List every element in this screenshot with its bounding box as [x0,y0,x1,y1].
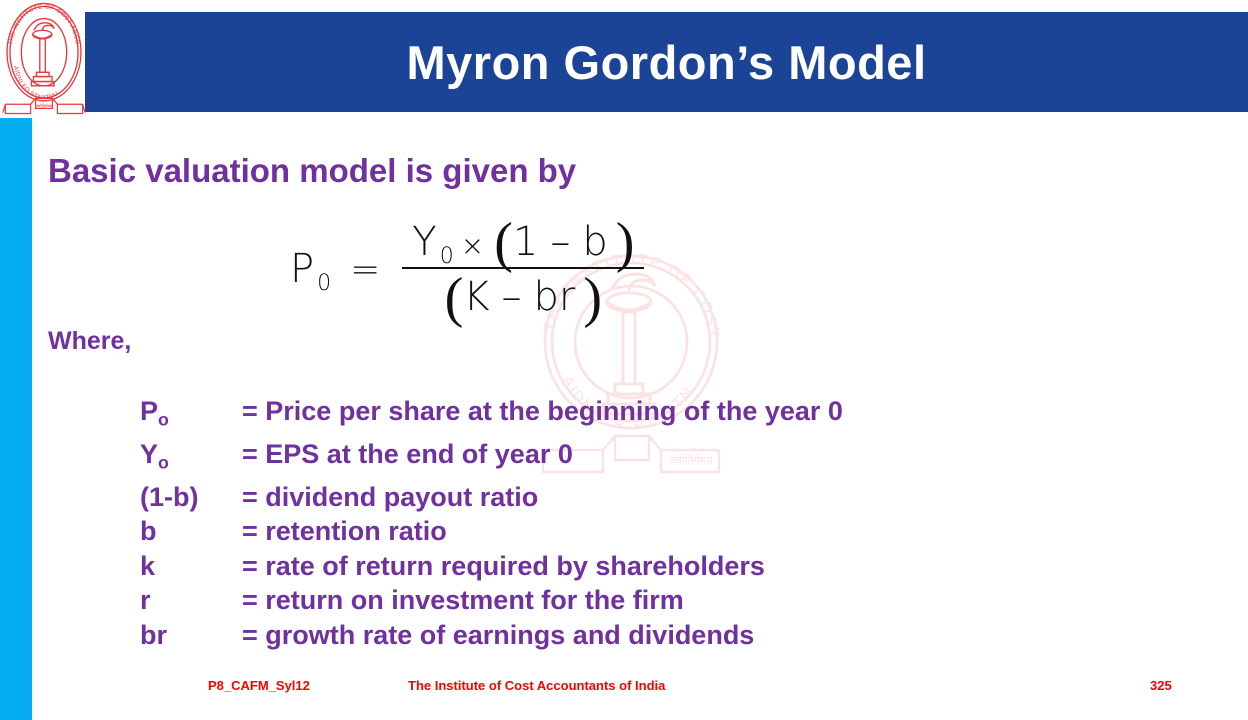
definition-description: = growth rate of earnings and dividends [242,618,754,653]
definition-symbol-subscript: o [158,452,169,472]
definition-description: = return on investment for the firm [242,583,684,618]
footer-subject-code: P8_CAFM_Syl12 [208,678,310,693]
denominator-first-term: K [463,274,489,320]
where-label: Where, [48,327,131,356]
denominator-close-paren: ) [583,279,602,318]
definition-symbol-base: b [140,516,157,546]
definition-symbol-subscript: o [158,409,169,429]
formula-denominator: ( K – br ) [435,269,612,320]
formula-equals: = [350,249,380,290]
numerator-times-sign: × [461,229,484,262]
numerator-operator: – [550,219,570,265]
definition-symbol-base: k [140,551,155,581]
footer-page-number: 325 [1150,678,1172,693]
definition-row: k= rate of return required by shareholde… [140,549,843,584]
definition-symbol: k [140,549,242,584]
institute-logo-icon: THE INSTITUTE OF COST ACCO AIDNI FO STNA… [2,0,86,122]
formula-lhs-subscript: 0 [317,271,331,296]
definition-symbol: r [140,583,242,618]
numerator-first-term: 1 [513,219,538,265]
formula-numerator: Y0 × ( 1 – b ) [402,218,644,267]
definition-row: Po= Price per share at the beginning of … [140,394,843,437]
formula-lhs: P0 [290,246,328,292]
denominator-open-paren: ( [445,279,464,318]
definition-symbol: br [140,618,242,653]
definition-symbol: Yo [140,437,242,480]
definition-row: Yo= EPS at the end of year 0 [140,437,843,480]
definition-description: = Price per share at the beginning of th… [242,394,843,437]
definition-symbol: b [140,514,242,549]
definition-list: Po= Price per share at the beginning of … [140,394,843,652]
page-title: Myron Gordon’s Model [85,12,1248,112]
definition-description: = dividend payout ratio [242,480,538,515]
definition-symbol-base: P [140,396,158,426]
slide-header-band: Myron Gordon’s Model [85,12,1248,112]
numerator-subscript: 0 [440,244,454,269]
definition-symbol: Po [140,394,242,437]
formula-lhs-symbol: P [290,246,314,292]
left-accent-bar [0,118,32,720]
slide-footer: P8_CAFM_Syl12 The Institute of Cost Acco… [0,678,1248,700]
numerator-symbol: Y [412,219,436,265]
definition-symbol-base: r [140,585,151,615]
numerator-second-term: b [582,219,607,265]
definition-symbol: (1-b) [140,480,242,515]
denominator-second-term: br [534,274,576,320]
definition-description: = EPS at the end of year 0 [242,437,573,480]
definition-symbol-base: Y [140,439,158,469]
formula-fraction: Y0 × ( 1 – b ) ( K – br ) [402,218,644,320]
definition-description: = rate of return required by shareholder… [242,549,765,584]
slide-canvas: Myron Gordon’s Model THE INSTITUTE OF CO… [0,0,1248,720]
valuation-formula: P0 = Y0 × ( 1 – b ) ( K – br ) [290,218,644,320]
definition-symbol-base: (1-b) [140,482,198,512]
definition-row: r= return on investment for the firm [140,583,843,618]
numerator-close-paren: ) [616,224,635,263]
footer-organization: The Institute of Cost Accountants of Ind… [408,678,665,693]
definition-symbol-base: br [140,620,167,650]
svg-text:ज्योतिर्गमय: ज्योतिर्गमय [36,104,53,109]
definition-row: b= retention ratio [140,514,843,549]
denominator-operator: – [502,274,522,320]
definition-row: br= growth rate of earnings and dividend… [140,618,843,653]
numerator-open-paren: ( [494,224,513,263]
definition-row: (1-b)= dividend payout ratio [140,480,843,515]
subtitle: Basic valuation model is given by [48,152,576,190]
definition-description: = retention ratio [242,514,447,549]
